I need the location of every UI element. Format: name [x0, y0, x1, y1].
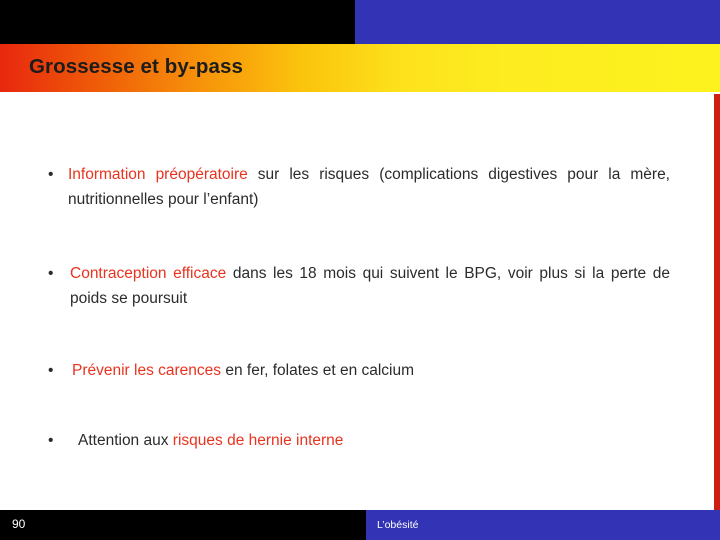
- bullet-item: • Attention aux risques de hernie intern…: [48, 428, 670, 453]
- bullet-marker: •: [48, 358, 53, 383]
- footer-label: L’obésité: [377, 519, 418, 531]
- page-title: Grossesse et by-pass: [29, 55, 243, 79]
- bullet-plain-text: en fer, folates et en calcium: [225, 362, 414, 379]
- bullet-item: • Information préopératoire sur les risq…: [48, 162, 670, 212]
- slide-body: • Information préopératoire sur les risq…: [0, 100, 714, 510]
- bullet-highlight-text: Prévenir les carences: [72, 362, 225, 379]
- bullet-plain-text: Attention aux: [78, 432, 173, 449]
- bullet-text: Information préopératoire sur les risque…: [48, 162, 670, 212]
- bullet-highlight-text: risques de hernie interne: [173, 432, 344, 449]
- top-banner: [0, 0, 720, 44]
- title-underline: [0, 92, 720, 94]
- top-banner-blue-block: [355, 0, 720, 44]
- bullet-text: Prévenir les carences en fer, folates et…: [48, 358, 670, 383]
- bottom-banner-black-block: 90: [0, 510, 366, 540]
- bullet-item: • Contraception efficace dans les 18 moi…: [48, 261, 670, 311]
- bottom-banner-blue-block: L’obésité: [366, 510, 720, 540]
- bullet-marker: •: [48, 162, 53, 187]
- title-band: Grossesse et by-pass: [0, 44, 720, 94]
- slide: Grossesse et by-pass • Information préop…: [0, 0, 720, 540]
- bullet-marker: •: [48, 261, 53, 286]
- bullet-text: Attention aux risques de hernie interne: [48, 428, 670, 453]
- bullet-marker: •: [48, 428, 53, 453]
- right-accent-strip: [714, 94, 720, 510]
- bullet-highlight-text: Information préopératoire: [68, 166, 258, 183]
- bullet-text: Contraception efficace dans les 18 mois …: [48, 261, 670, 311]
- bottom-banner: 90 L’obésité: [0, 510, 720, 540]
- bullet-highlight-text: Contraception efficace: [70, 265, 233, 282]
- bullet-item: • Prévenir les carences en fer, folates …: [48, 358, 670, 383]
- page-number: 90: [12, 517, 25, 531]
- top-banner-black-block: [0, 0, 355, 44]
